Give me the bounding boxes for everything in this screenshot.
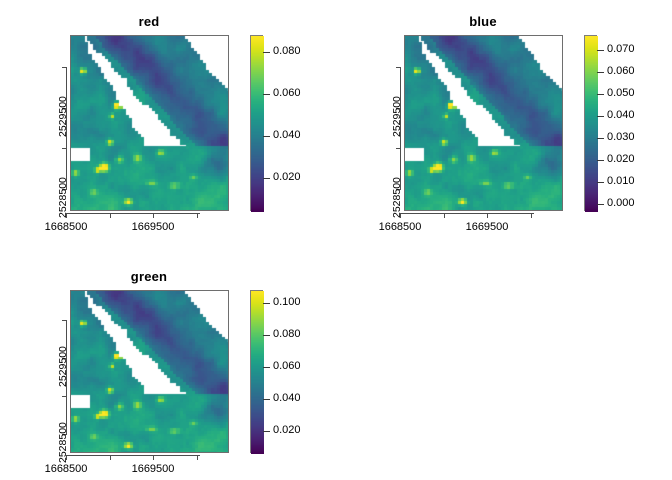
- raster-canvas-green: [71, 291, 229, 453]
- colorbar-tick-red-0: [263, 52, 270, 53]
- colorbar-tick-blue-3: [597, 116, 604, 117]
- colorbar-tick-blue-1: [597, 72, 604, 73]
- x-axis-line-green: [66, 455, 200, 456]
- y-tick-blue-0: [396, 67, 401, 68]
- x-tick-label-blue-1: 1669500: [457, 221, 517, 233]
- x-tick-red-2: [153, 213, 154, 218]
- x-tick-label-red-0: 1668500: [36, 221, 96, 233]
- y-tick-blue-2: [396, 148, 401, 149]
- y-tick-label-blue-1: 2528500: [391, 177, 403, 218]
- colorbar-canvas-red: [251, 36, 264, 212]
- colorbar-tick-green-3: [263, 399, 270, 400]
- colorbar-tick-green-0: [263, 303, 270, 304]
- colorbar-tick-green-1: [263, 335, 270, 336]
- colorbar-label-blue-1: 0.060: [607, 65, 635, 77]
- colorbar-label-green-1: 0.080: [273, 328, 301, 340]
- colorbar-tick-red-1: [263, 94, 270, 95]
- x-tick-blue-3: [531, 213, 532, 218]
- raster-plot-red: [70, 35, 229, 211]
- x-tick-green-1: [110, 455, 111, 460]
- raster-canvas-red: [71, 36, 229, 211]
- x-tick-label-red-1: 1669500: [123, 221, 183, 233]
- colorbar-blue: [584, 35, 597, 211]
- y-tick-label-red-0: 2529500: [57, 96, 69, 137]
- colorbar-green: [250, 290, 263, 453]
- y-tick-label-green-1: 2528500: [57, 422, 69, 463]
- colorbar-label-green-4: 0.020: [273, 424, 301, 436]
- y-tick-green-2: [62, 396, 67, 397]
- colorbar-tick-blue-7: [597, 204, 604, 205]
- x-tick-label-green-0: 1668500: [36, 463, 96, 475]
- colorbar-tick-blue-4: [597, 138, 604, 139]
- x-tick-label-green-1: 1669500: [123, 463, 183, 475]
- colorbar-label-red-3: 0.020: [273, 171, 301, 183]
- colorbar-label-green-2: 0.060: [273, 360, 301, 372]
- figure-root: { "figure": { "background": "#ffffff", "…: [0, 0, 672, 480]
- colorbar-tick-green-4: [263, 431, 270, 432]
- colorbar-label-red-0: 0.080: [273, 45, 301, 57]
- x-tick-green-2: [153, 455, 154, 460]
- colorbar-tick-blue-0: [597, 50, 604, 51]
- x-tick-red-3: [197, 213, 198, 218]
- colorbar-label-green-3: 0.040: [273, 392, 301, 404]
- x-tick-blue-2: [487, 213, 488, 218]
- colorbar-label-blue-0: 0.070: [607, 43, 635, 55]
- panel-title-blue: blue: [404, 14, 562, 29]
- colorbar-tick-blue-6: [597, 182, 604, 183]
- x-tick-label-blue-0: 1668500: [370, 221, 430, 233]
- colorbar-tick-red-3: [263, 178, 270, 179]
- x-axis-line-red: [66, 213, 200, 214]
- x-axis-line-blue: [400, 213, 534, 214]
- x-tick-green-3: [197, 455, 198, 460]
- colorbar-label-red-1: 0.060: [273, 87, 301, 99]
- raster-plot-blue: [404, 35, 563, 211]
- y-tick-red-0: [62, 67, 67, 68]
- y-tick-red-2: [62, 148, 67, 149]
- y-tick-green-0: [62, 320, 67, 321]
- raster-canvas-blue: [405, 36, 563, 211]
- colorbar-canvas-green: [251, 291, 264, 454]
- y-tick-label-blue-0: 2529500: [391, 96, 403, 137]
- panel-title-green: green: [70, 269, 228, 284]
- colorbar-label-blue-7: 0.000: [607, 197, 635, 209]
- x-tick-red-1: [110, 213, 111, 218]
- colorbar-label-red-2: 0.040: [273, 129, 301, 141]
- colorbar-label-blue-4: 0.030: [607, 131, 635, 143]
- colorbar-red: [250, 35, 263, 211]
- y-tick-label-red-1: 2528500: [57, 177, 69, 218]
- colorbar-tick-blue-2: [597, 94, 604, 95]
- colorbar-label-blue-2: 0.050: [607, 87, 635, 99]
- colorbar-label-blue-5: 0.020: [607, 153, 635, 165]
- colorbar-tick-green-2: [263, 367, 270, 368]
- colorbar-label-blue-3: 0.040: [607, 109, 635, 121]
- y-tick-label-green-0: 2529500: [57, 346, 69, 387]
- raster-plot-green: [70, 290, 229, 453]
- colorbar-label-green-0: 0.100: [273, 296, 301, 308]
- colorbar-canvas-blue: [585, 36, 598, 212]
- x-tick-blue-1: [444, 213, 445, 218]
- colorbar-label-blue-6: 0.010: [607, 175, 635, 187]
- colorbar-tick-red-2: [263, 136, 270, 137]
- colorbar-tick-blue-5: [597, 160, 604, 161]
- panel-title-red: red: [70, 14, 228, 29]
